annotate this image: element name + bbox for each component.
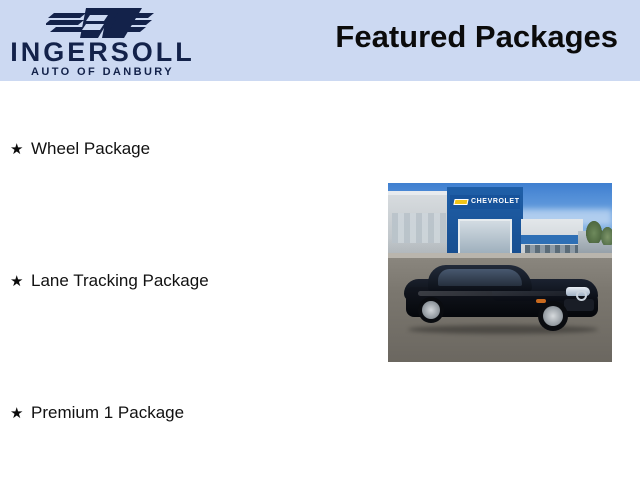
header-band: INGERSOLL AUTO OF DANBURY Featured Packa… xyxy=(0,0,640,81)
package-label: Premium 1 Package xyxy=(31,403,184,423)
brand-logo: INGERSOLL AUTO OF DANBURY xyxy=(0,2,205,80)
star-bullet-icon: ★ xyxy=(10,140,31,160)
list-item: ★ Premium 1 Package xyxy=(10,403,184,424)
curb xyxy=(388,253,612,258)
dealer-sign-text: CHEVROLET xyxy=(471,198,520,205)
showroom-glass xyxy=(392,213,446,243)
list-item: ★ Wheel Package xyxy=(10,139,150,160)
front-grille xyxy=(564,299,594,311)
brand-subtitle: AUTO OF DANBURY xyxy=(0,66,205,78)
vehicle-windows xyxy=(438,269,522,286)
ingersoll-wing-emblem-icon xyxy=(46,5,156,41)
vehicle-shadow xyxy=(408,325,598,334)
blue-fascia-band xyxy=(521,235,583,244)
vehicle-photo: CHEVROLET xyxy=(388,183,612,362)
roofline xyxy=(388,191,452,195)
star-bullet-icon: ★ xyxy=(10,272,31,292)
star-bullet-icon: ★ xyxy=(10,404,31,424)
tree xyxy=(586,221,602,243)
tree xyxy=(601,227,612,245)
brand-wordmark: INGERSOLL xyxy=(0,38,205,66)
mercedes-star-badge-icon xyxy=(576,290,587,301)
list-item: ★ Lane Tracking Package xyxy=(10,271,209,292)
body-highlight xyxy=(418,291,578,296)
package-label: Wheel Package xyxy=(31,139,150,159)
package-label: Lane Tracking Package xyxy=(31,271,209,291)
rear-rim xyxy=(422,301,440,319)
page-title: Featured Packages xyxy=(335,19,618,55)
entrance-window xyxy=(458,219,512,255)
chevrolet-bowtie-icon xyxy=(453,199,468,205)
package-list: ★ Wheel Package ★ Lane Tracking Package … xyxy=(0,81,380,480)
front-rim xyxy=(543,306,563,326)
